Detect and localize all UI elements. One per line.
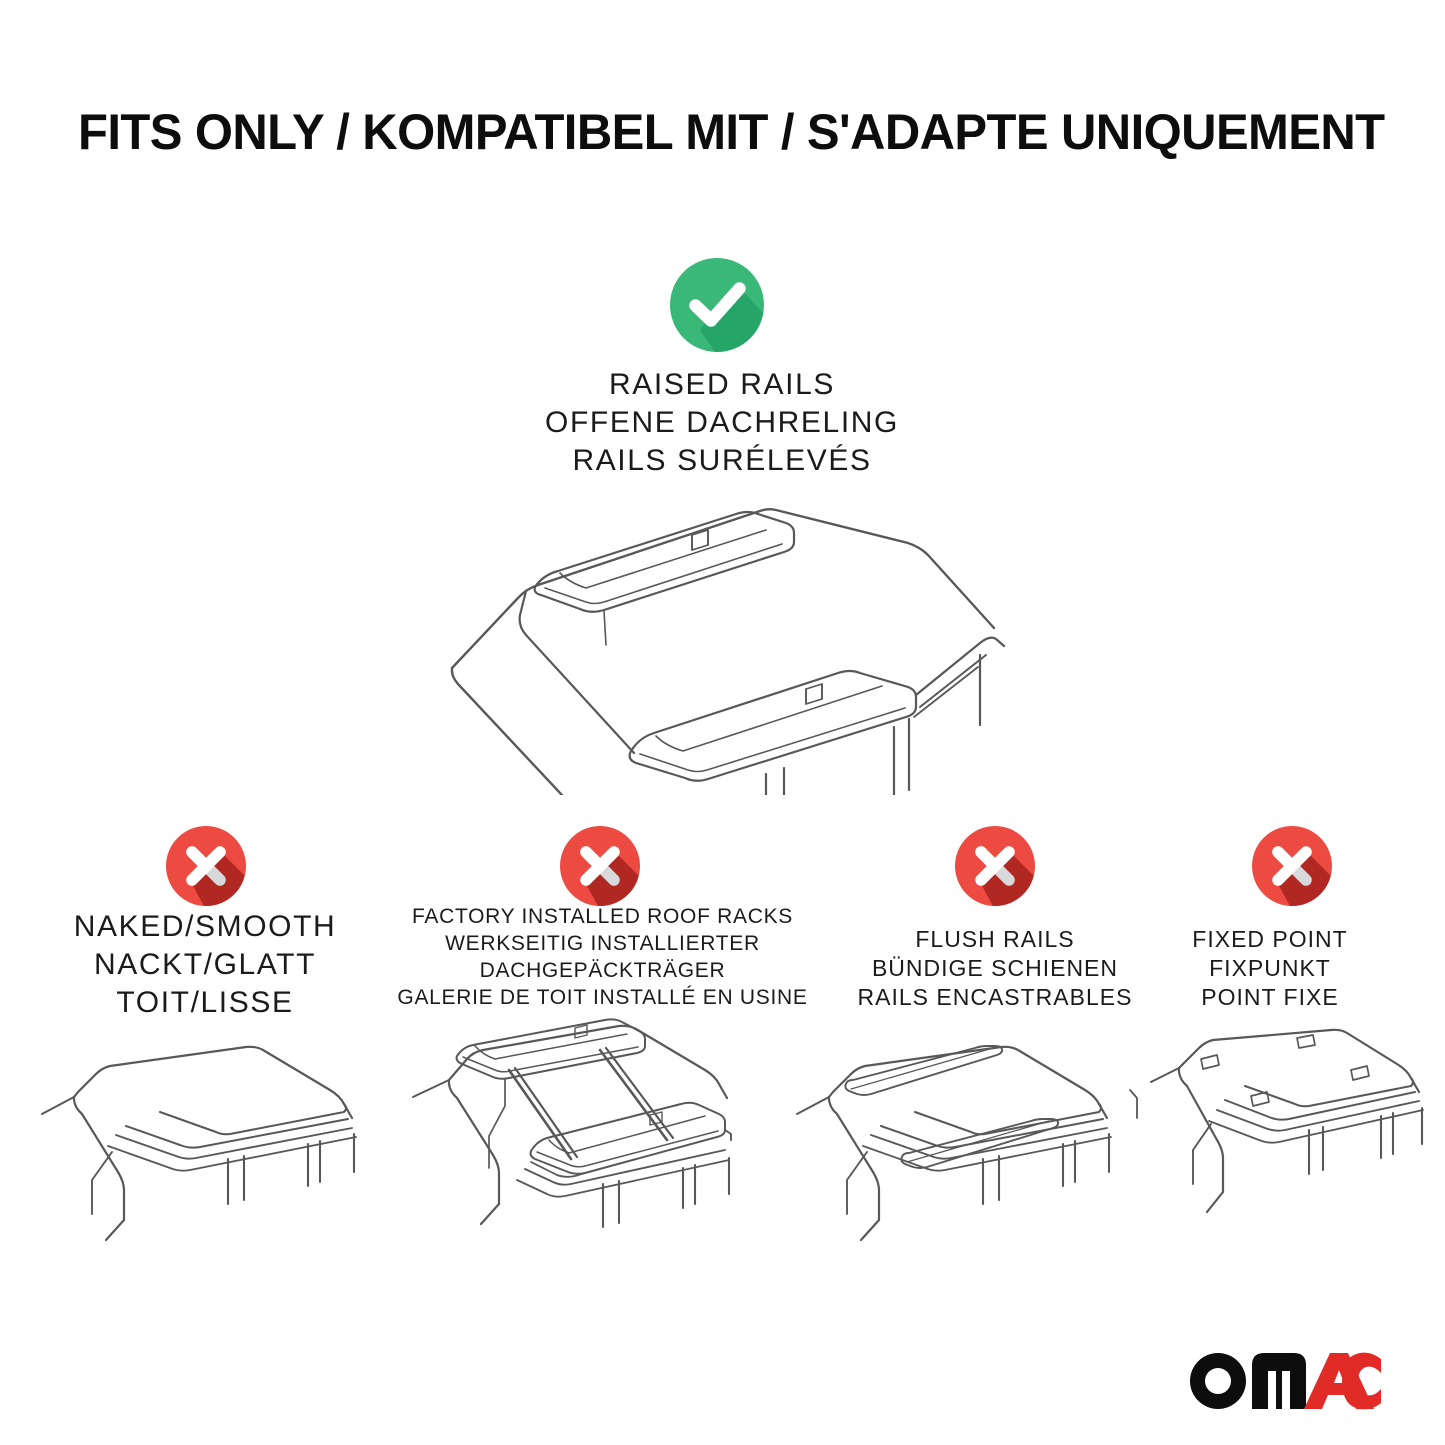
car-roof-naked-smooth-illustration — [30, 1022, 380, 1247]
omac-logo — [1186, 1345, 1381, 1413]
compatible-label-en: RAISED RAILS — [372, 366, 1072, 404]
car-roof-factory-racks-illustration — [405, 1012, 765, 1247]
incompatible-3-label-fr: RAILS ENCASTRABLES — [830, 983, 1160, 1012]
cross-circle-icon — [166, 826, 246, 906]
incompatible-3-label-de: BÜNDIGE SCHIENEN — [830, 954, 1160, 983]
incompatible-1-label-en: NAKED/SMOOTH — [25, 908, 385, 946]
car-roof-fixed-point-illustration — [1145, 1022, 1445, 1247]
check-circle-icon — [670, 258, 768, 356]
incompatible-2-label-en: FACTORY INSTALLED ROOF RACKS — [340, 903, 865, 930]
car-roof-flush-rails-illustration — [785, 1022, 1140, 1247]
cross-circle-icon — [1252, 826, 1332, 906]
incompatible-2-label-group: FACTORY INSTALLED ROOF RACKS WERKSEITIG … — [340, 903, 865, 1011]
compatible-label-de: OFFENE DACHRELING — [372, 404, 1072, 442]
cross-circle-icon — [560, 826, 640, 906]
cross-circle-icon — [955, 826, 1035, 906]
incompatible-2-label-fr: GALERIE DE TOIT INSTALLÉ EN USINE — [340, 984, 865, 1011]
page-title: FITS ONLY / KOMPATIBEL MIT / S'ADAPTE UN… — [78, 107, 1352, 157]
incompatible-3-label-en: FLUSH RAILS — [830, 925, 1160, 954]
incompatible-4-label-fr: POINT FIXE — [1140, 983, 1400, 1012]
car-roof-raised-rails-illustration — [408, 495, 1038, 795]
incompatible-4-label-en: FIXED POINT — [1140, 925, 1400, 954]
compatible-label-group: RAISED RAILS OFFENE DACHRELING RAILS SUR… — [372, 366, 1072, 480]
compatible-label-fr: RAILS SURÉLEVÉS — [372, 442, 1072, 480]
incompatible-4-label-de: FIXPUNKT — [1140, 954, 1400, 983]
incompatible-4-label-group: FIXED POINT FIXPUNKT POINT FIXE — [1140, 925, 1400, 1012]
incompatible-1-label-de: NACKT/GLATT — [25, 946, 385, 984]
compatibility-infographic: FITS ONLY / KOMPATIBEL MIT / S'ADAPTE UN… — [0, 0, 1445, 1445]
incompatible-1-label-group: NAKED/SMOOTH NACKT/GLATT TOIT/LISSE — [25, 908, 385, 1022]
incompatible-1-label-fr: TOIT/LISSE — [25, 984, 385, 1022]
incompatible-3-label-group: FLUSH RAILS BÜNDIGE SCHIENEN RAILS ENCAS… — [830, 925, 1160, 1012]
incompatible-2-label-de-2: DACHGEPÄCKTRÄGER — [340, 957, 865, 984]
incompatible-2-label-de-1: WERKSEITIG INSTALLIERTER — [340, 930, 865, 957]
